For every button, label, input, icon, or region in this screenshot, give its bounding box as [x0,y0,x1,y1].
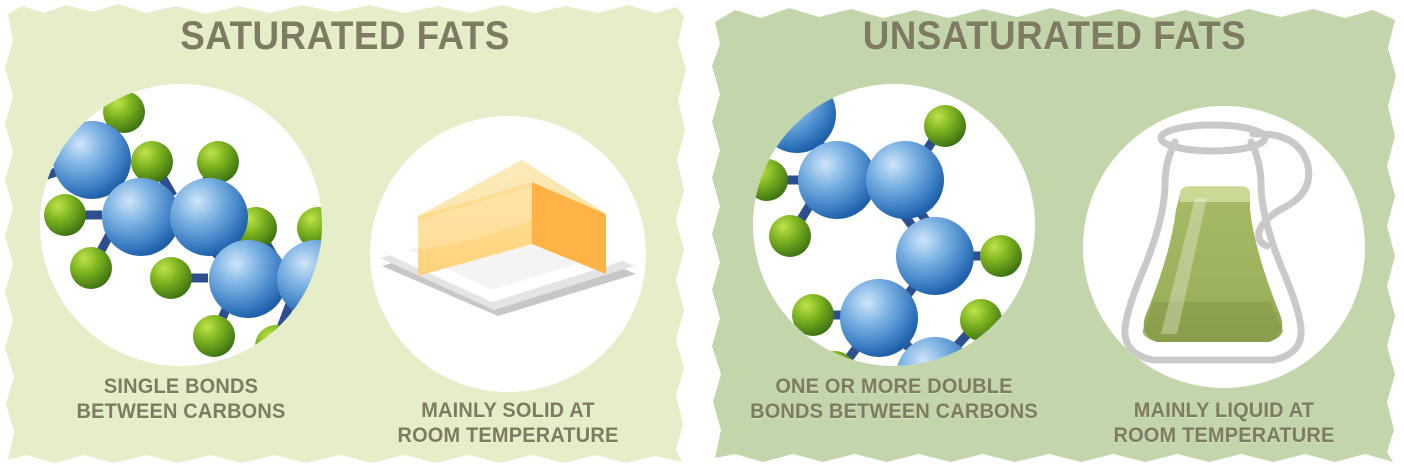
caption-line: MAINLY SOLID AT [360,398,656,423]
hydrogen-atom [193,315,235,357]
hydrogen-atom [44,194,86,236]
hydrogen-atom [131,141,173,183]
hydrogen-atom [70,247,112,289]
hydrogen-atom [924,105,966,147]
caption-line: MAINLY LIQUID AT [1073,398,1375,423]
oil-pitcher-icon [1083,106,1365,388]
saturated-molecule-caption: SINGLE BONDS BETWEEN CARBONS [28,374,334,424]
panel-unsaturated-title: UNSATURATED FATS [733,14,1376,59]
caption-line: SINGLE BONDS [28,374,334,399]
carbon-atom-partial [758,75,836,153]
oil-caption: MAINLY LIQUID AT ROOM TEMPERATURE [1073,398,1375,448]
hydrogen-atom [255,325,297,367]
caption-line: BETWEEN CARBONS [28,399,334,424]
caption-line: ROOM TEMPERATURE [1073,423,1375,448]
caption-line: ONE OR MORE DOUBLE [724,374,1064,399]
unsaturated-molecule-icon [753,84,1035,366]
carbon-atom [866,141,944,219]
panel-saturated-fats: SATURATED FATS [0,0,690,468]
butter-stick-on-dish-icon [370,116,646,392]
carbon-atom [209,240,287,318]
hydrogen-atom [746,159,788,201]
hydrogen-atom [792,294,834,336]
panel-saturated-title: SATURATED FATS [28,14,663,59]
hydrogen-atom [197,141,239,183]
panel-unsaturated-fats: UNSATURATED FATS [705,0,1404,468]
caption-line: BONDS BETWEEN CARBONS [724,399,1064,424]
butter-caption: MAINLY SOLID AT ROOM TEMPERATURE [360,398,656,448]
hydrogen-atom [960,299,1002,341]
caption-line: ROOM TEMPERATURE [360,423,656,448]
carbon-atom [896,217,974,295]
unsaturated-molecule-caption: ONE OR MORE DOUBLE BONDS BETWEEN CARBONS [724,374,1064,424]
hydrogen-atom [769,215,811,257]
carbon-atom [798,141,876,219]
infographic-root: SATURATED FATS [0,0,1404,468]
saturated-molecule-icon [40,84,322,366]
carbon-atom [102,178,180,256]
hydrogen-atom [980,235,1022,277]
carbon-atom [840,279,918,357]
hydrogen-atom [150,257,192,299]
